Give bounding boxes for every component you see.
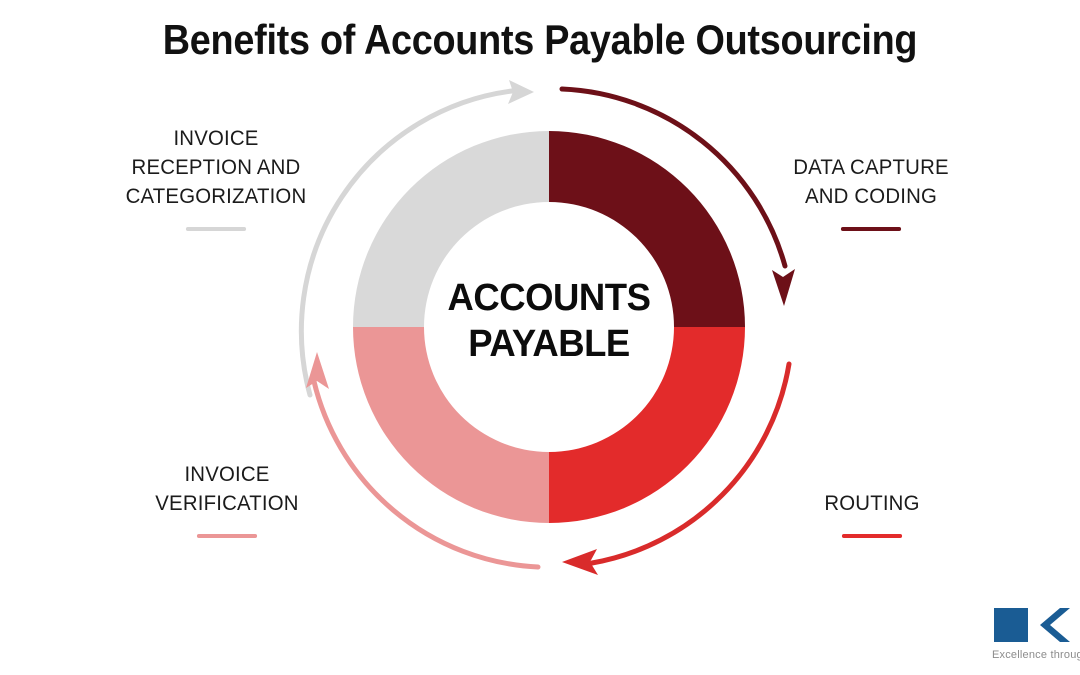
label-line-2: VERIFICATION xyxy=(127,489,327,518)
label-accent-rule xyxy=(186,227,246,231)
label-invoice-reception-and-categorization[interactable]: INVOICE RECEPTION AND CATEGORIZATION xyxy=(100,124,333,231)
label-line-2: AND CODING xyxy=(765,182,976,211)
donut-center-label: ACCOUNTS PAYABLE xyxy=(428,275,670,367)
label-line-2: RECEPTION AND xyxy=(100,153,333,182)
logo-mark-icon xyxy=(992,605,1080,647)
label-accent-rule xyxy=(841,227,901,231)
logo-tagline: Excellence through xyxy=(992,649,1080,661)
brand-logo: Excellence through xyxy=(992,605,1080,675)
label-accent-rule xyxy=(197,534,257,538)
label-accent-rule xyxy=(842,534,902,538)
cycle-diagram: ACCOUNTS PAYABLE INVOICE RECEPTION AND C… xyxy=(0,0,1080,675)
donut-center-label-line1: ACCOUNTS xyxy=(448,277,651,319)
label-data-capture-and-coding[interactable]: DATA CAPTURE AND CODING xyxy=(765,153,976,231)
label-line-1: INVOICE xyxy=(127,460,327,489)
label-line-1: INVOICE xyxy=(100,124,333,153)
label-line-3: CATEGORIZATION xyxy=(100,182,333,211)
label-line-1: ROUTING xyxy=(775,489,969,518)
label-routing[interactable]: ROUTING xyxy=(775,489,969,538)
donut-center-label-line2: PAYABLE xyxy=(428,321,670,367)
label-line-1: DATA CAPTURE xyxy=(765,153,976,182)
label-invoice-verification[interactable]: INVOICE VERIFICATION xyxy=(127,460,327,538)
